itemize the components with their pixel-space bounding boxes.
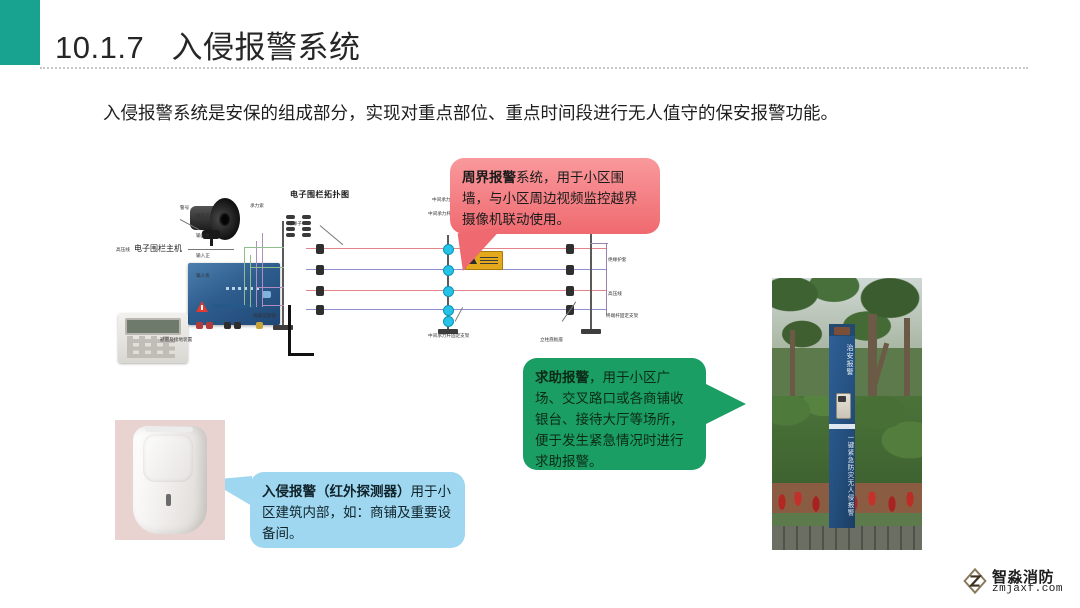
- diagram-annotation: 避雷及接地装置: [160, 337, 192, 343]
- emergency-call-button[interactable]: [838, 396, 846, 402]
- emergency-pole-photo: 治安报警 一键紧急防灾无人侵报警: [772, 278, 922, 550]
- callout-help-alarm: 求助报警，用于小区广场、交叉路口或各商铺收银台、接待大厅等场所，便于发生紧急情况…: [523, 358, 706, 470]
- callout-tail: [702, 382, 746, 426]
- pole-sign-top: 治安报警: [830, 344, 854, 384]
- diagram-annotation: 线鼻压接管: [253, 313, 276, 319]
- section-title: 入侵报警系统: [172, 30, 361, 65]
- diagram-annotation: 输出正: [196, 213, 210, 219]
- brand-mark-icon: [962, 568, 988, 594]
- diagram-annotation: 绝缘护套: [608, 257, 626, 263]
- intro-paragraph: 入侵报警系统是安保的组成部分，实现对重点部位、重点时间段进行无人值守的保安报警功…: [103, 100, 963, 126]
- callout-help-emphasis: 求助报警: [535, 370, 589, 385]
- diagram-annotation: 警号: [180, 205, 189, 211]
- slide-canvas: 10.1.7 入侵报警系统 入侵报警系统是安保的组成部分，实现对重点部位、重点时…: [0, 0, 1080, 608]
- callout-perimeter-emphasis: 周界报警: [462, 170, 516, 185]
- callout-intrusion-alarm: 入侵报警（红外探测器）用于小区建筑内部，如：商铺及重要设备间。: [250, 472, 465, 548]
- warning-triangle-icon: [196, 301, 208, 312]
- diagram-annotation: 立柱底板座: [540, 337, 563, 343]
- pole-sign-bottom: 一键紧急防灾无人侵报警: [830, 434, 854, 520]
- diagram-annotation: 输入正: [196, 253, 210, 259]
- diagram-annotation: 绝缘子: [288, 221, 302, 227]
- diagram-annotation: 输入负: [196, 273, 210, 279]
- host-label: 电子围栏主机: [128, 243, 188, 255]
- section-number: 10.1.7: [55, 30, 144, 65]
- title-divider: [40, 67, 1028, 69]
- callout-tail: [458, 227, 509, 271]
- diagram-annotation: 承力索: [250, 203, 264, 209]
- diagram-annotation: 终端杆固定支架: [606, 313, 638, 319]
- callout-perimeter-alarm: 周界报警系统，用于小区围墙，与小区周边视频监控越界摄像机联动使用。: [450, 158, 660, 234]
- page-title: 10.1.7 入侵报警系统: [55, 22, 361, 67]
- callout-intrusion-emphasis: 入侵报警（红外探测器）: [262, 484, 411, 499]
- brand-logo: 智淼消防 zmjaxf.com: [962, 566, 1072, 600]
- diagram-annotation: 高压线: [608, 291, 622, 297]
- diagram-annotation: 中间承力杆固定支架: [428, 333, 469, 339]
- diagram-annotation: 高压线: [116, 247, 130, 253]
- diagram-title: 电子围栏拓扑图: [290, 189, 350, 200]
- accent-bar: [0, 0, 40, 65]
- brand-url: zmjaxf.com: [992, 583, 1063, 595]
- diagram-annotation: 输出负: [196, 233, 210, 239]
- pir-detector-photo: [115, 420, 225, 540]
